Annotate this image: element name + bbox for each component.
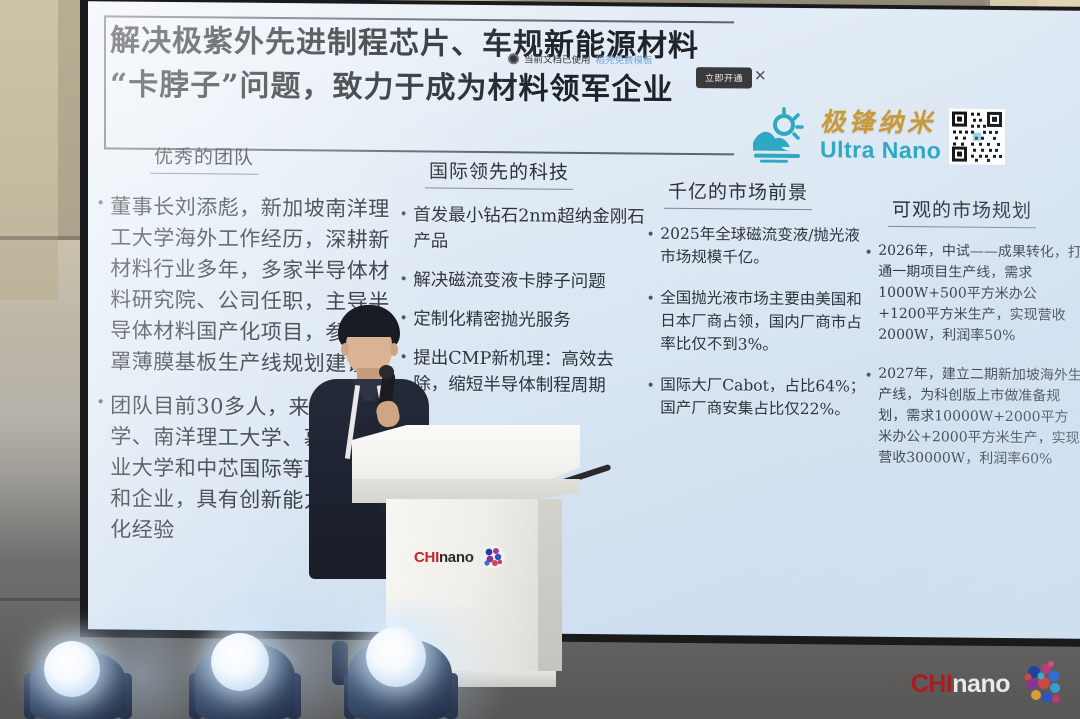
presentation-screen: 解决极紫外先进制程芯片、车规新能源材料 “卡脖子”问题，致力于成为材料领军企业 … bbox=[88, 1, 1080, 639]
podium-brand-text: CHInano bbox=[414, 549, 474, 566]
list-item: • 2026年，中试——成果转化，打通一期项目生产线，需求1000W+500平方… bbox=[866, 241, 1080, 348]
document-notification: 当前文档已使用 稻壳免费模板 bbox=[508, 45, 828, 74]
bullet-dot-icon: • bbox=[866, 364, 871, 469]
podium-brand-logo: CHInano bbox=[414, 535, 524, 579]
presenter-fringe bbox=[341, 317, 397, 337]
bullet-text: 提出CMP新机理：高效去除，缩短半导体制程周期 bbox=[413, 345, 646, 399]
bullet-text: 2025年全球磁流变液/抛光液市场规模千亿。 bbox=[660, 223, 870, 271]
qr-code bbox=[949, 108, 1005, 165]
podium-brand-suffix: nano bbox=[439, 549, 474, 566]
bullet-text: 2027年，建立二期新加坡海外生产线，为科创版上市做准备规划，需求10000W+… bbox=[878, 364, 1080, 471]
list-item: • 解决磁流变液卡脖子问题 bbox=[401, 267, 646, 295]
bullet-text: 国际大厂Cabot，占比64%；国产厂商安集占比仅22%。 bbox=[660, 374, 870, 422]
bullet-text: 2026年，中试——成果转化，打通一期项目生产线，需求1000W+500平方米办… bbox=[878, 241, 1080, 348]
list-item: • 国际大厂Cabot，占比64%；国产厂商安集占比仅22%。 bbox=[648, 374, 870, 422]
list-item: • 定制化精密抛光服务 bbox=[401, 306, 646, 334]
bullet-text: 定制化精密抛光服务 bbox=[413, 306, 571, 334]
bullet-text: 首发最小钻石2nm超纳金刚石产品 bbox=[413, 202, 646, 256]
moving-head-spotlight bbox=[195, 631, 295, 719]
watermark-brand-suffix: nano bbox=[952, 670, 1010, 698]
molecule-icon bbox=[1018, 661, 1064, 707]
podium-side-panel bbox=[538, 499, 562, 671]
column-2-bullets: • 首发最小钻石2nm超纳金刚石产品 • 解决磁流变液卡脖子问题 • 定制化精密… bbox=[401, 202, 646, 399]
sun-and-mountain-icon bbox=[750, 107, 816, 164]
column-market-prospects: 千亿的市场前景 • 2025年全球磁流变液/抛光液市场规模千亿。 • 全国抛光液… bbox=[648, 177, 870, 440]
light-lens bbox=[211, 633, 269, 691]
list-item: • 2027年，建立二期新加坡海外生产线，为科创版上市做准备规划，需求10000… bbox=[866, 364, 1080, 471]
column-leading-technology: 国际领先的科技 • 首发最小钻石2nm超纳金刚石产品 • 解决磁流变液卡脖子问题… bbox=[401, 156, 646, 412]
brand-text: 极锋纳米 Ultra Nano bbox=[820, 108, 941, 163]
column-1-header: 优秀的团队 bbox=[150, 142, 258, 175]
light-lens bbox=[366, 627, 426, 687]
notification-text: 当前文档已使用 bbox=[524, 51, 591, 66]
moving-head-spotlight bbox=[348, 623, 452, 719]
bullet-dot-icon: • bbox=[866, 241, 871, 346]
bullet-text: 全国抛光液市场主要由美国和日本厂商占领，国内厂商市占率比仅不到3%。 bbox=[660, 287, 870, 358]
microphone-head bbox=[379, 365, 394, 379]
column-2-header: 国际领先的科技 bbox=[425, 156, 573, 189]
bullet-dot-icon: • bbox=[401, 267, 406, 293]
column-3-header: 千亿的市场前景 bbox=[664, 177, 812, 210]
presenter-ear-right bbox=[390, 343, 398, 356]
column-4-bullets: • 2026年，中试——成果转化，打通一期项目生产线，需求1000W+500平方… bbox=[866, 241, 1080, 471]
molecule-icon bbox=[480, 544, 506, 570]
bullet-dot-icon: • bbox=[648, 223, 653, 269]
bullet-text: 解决磁流变液卡脖子问题 bbox=[413, 267, 606, 295]
brand-chinese-name: 极锋纳米 bbox=[820, 108, 941, 137]
watermark-text: CHInano bbox=[911, 670, 1010, 699]
brand-english-name: Ultra Nano bbox=[820, 136, 941, 163]
activate-now-button[interactable]: 立即开通 bbox=[696, 67, 752, 89]
notification-icon bbox=[508, 53, 519, 64]
bullet-dot-icon: • bbox=[98, 191, 103, 377]
column-market-planning: 可观的市场规划 • 2026年，中试——成果转化，打通一期项目生产线，需求100… bbox=[866, 195, 1080, 489]
light-lens bbox=[44, 641, 100, 697]
moving-head-spotlight bbox=[30, 643, 126, 719]
column-4-header: 可观的市场规划 bbox=[888, 195, 1036, 228]
bullet-dot-icon: • bbox=[648, 287, 653, 356]
bullet-dot-icon: • bbox=[401, 202, 406, 254]
list-item: • 全国抛光液市场主要由美国和日本厂商占领，国内厂商市占率比仅不到3%。 bbox=[648, 287, 870, 358]
screenshot-root: 解决极紫外先进制程芯片、车规新能源材料 “卡脖子”问题，致力于成为材料领军企业 … bbox=[0, 0, 1080, 719]
list-item: • 提出CMP新机理：高效去除，缩短半导体制程周期 bbox=[401, 345, 646, 399]
company-brand: 极锋纳米 Ultra Nano bbox=[750, 94, 1068, 179]
list-item: • 2025年全球磁流变液/抛光液市场规模千亿。 bbox=[648, 223, 870, 271]
wall-panel-left-upper bbox=[0, 0, 58, 300]
podium-brand-prefix: CHI bbox=[414, 549, 439, 566]
bullet-dot-icon: • bbox=[648, 374, 653, 420]
presenter-ear-left bbox=[341, 343, 349, 356]
column-3-bullets: • 2025年全球磁流变液/抛光液市场规模千亿。 • 全国抛光液市场主要由美国和… bbox=[648, 223, 870, 422]
event-watermark: CHInano bbox=[911, 661, 1064, 707]
bullet-dot-icon: • bbox=[98, 390, 103, 545]
notification-link[interactable]: 稻壳免费模板 bbox=[596, 52, 653, 67]
close-icon[interactable]: ✕ bbox=[754, 68, 767, 86]
watermark-brand-prefix: CHI bbox=[911, 670, 953, 698]
list-item: • 首发最小钻石2nm超纳金刚石产品 bbox=[401, 202, 646, 256]
